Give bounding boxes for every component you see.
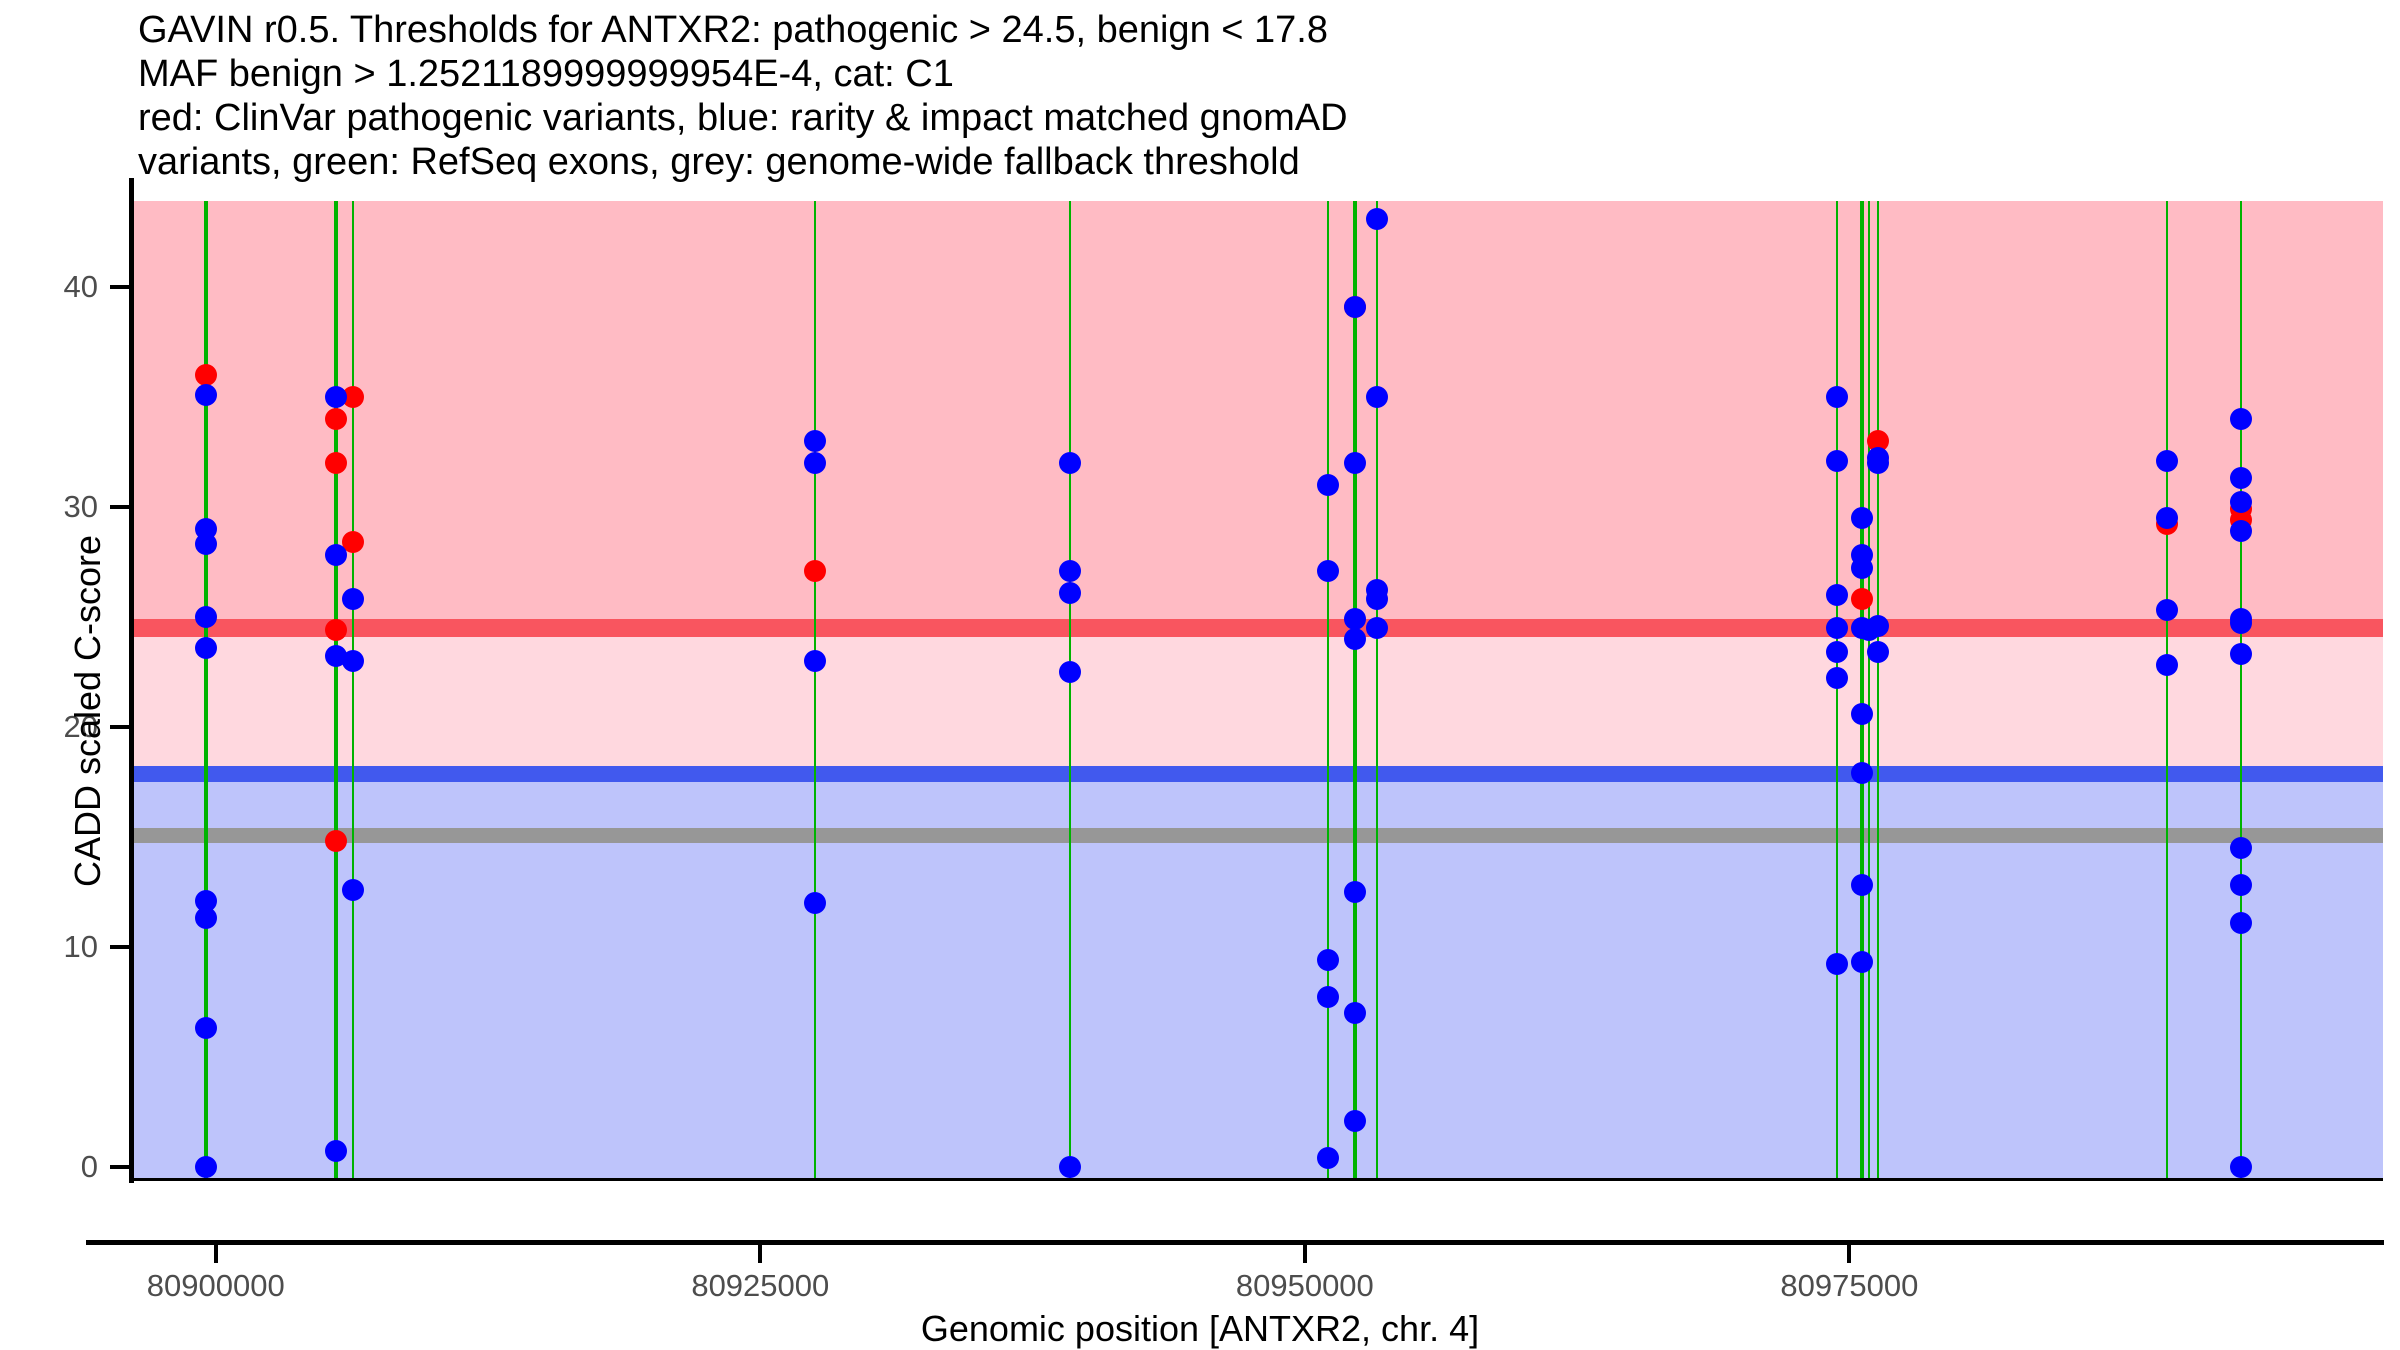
gnomad-variant-point [2230, 520, 2252, 542]
gnomad-variant-point [195, 907, 217, 929]
gnomad-variant-point [1344, 452, 1366, 474]
exon-line [1860, 201, 1864, 1180]
gnomad-variant-point [1826, 584, 1848, 606]
band-benign-threshold [133, 766, 2383, 781]
clinvar-variant-point [195, 364, 217, 386]
gnomad-variant-point [325, 386, 347, 408]
gnomad-variant-point [195, 533, 217, 555]
gnomad-variant-point [1826, 641, 1848, 663]
gnomad-variant-point [195, 1156, 217, 1178]
gnomad-variant-point [1851, 874, 1873, 896]
figure-title: GAVIN r0.5. Thresholds for ANTXR2: patho… [138, 8, 2338, 184]
exon-line [2166, 201, 2168, 1180]
gnomad-variant-point [804, 650, 826, 672]
x-tick-mark [1847, 1245, 1851, 1263]
gnomad-variant-point [2230, 467, 2252, 489]
gnomad-variant-point [1344, 881, 1366, 903]
gnomad-variant-point [1867, 615, 1889, 637]
exon-line [1327, 201, 1329, 1180]
gnomad-variant-point [195, 384, 217, 406]
exon-line [1376, 201, 1378, 1180]
gnomad-variant-point [2156, 599, 2178, 621]
gnomad-variant-point [1851, 507, 1873, 529]
gnomad-variant-point [1344, 1110, 1366, 1132]
gnomad-variant-point [1059, 1156, 1081, 1178]
exon-line [1877, 201, 1879, 1180]
exon-line [1868, 201, 1870, 1180]
gnomad-variant-point [342, 588, 364, 610]
gnomad-variant-point [2156, 654, 2178, 676]
gnomad-variant-point [1826, 450, 1848, 472]
y-tick-mark [110, 945, 130, 949]
gnomad-variant-point [1851, 951, 1873, 973]
gnomad-variant-point [1317, 474, 1339, 496]
gavin-cadd-scatter-figure: GAVIN r0.5. Thresholds for ANTXR2: patho… [0, 0, 2400, 1350]
clinvar-variant-point [325, 830, 347, 852]
clinvar-variant-point [804, 560, 826, 582]
gnomad-variant-point [1366, 617, 1388, 639]
threshold-bands [133, 201, 2383, 1180]
x-tick-label: 80950000 [1236, 1268, 1374, 1304]
gnomad-variant-point [1317, 986, 1339, 1008]
title-line-4: variants, green: RefSeq exons, grey: gen… [138, 140, 2338, 184]
gnomad-variant-point [1059, 582, 1081, 604]
gnomad-variant-point [2230, 912, 2252, 934]
gnomad-variant-point [195, 637, 217, 659]
exon-line [2240, 201, 2242, 1180]
y-axis-line [129, 178, 134, 1183]
x-tick-mark [214, 1245, 218, 1263]
gnomad-variant-point [2156, 507, 2178, 529]
y-tick-mark [110, 505, 130, 509]
plot-panel [133, 201, 2383, 1180]
band-pathogenic-threshold [133, 619, 2383, 637]
gnomad-variant-point [1826, 617, 1848, 639]
gnomad-variant-point [2230, 408, 2252, 430]
gnomad-variant-point [1851, 762, 1873, 784]
y-tick-mark [110, 1165, 130, 1169]
gnomad-variant-point [1366, 386, 1388, 408]
clinvar-variant-point [325, 619, 347, 641]
gnomad-variant-point [195, 1017, 217, 1039]
x-tick-mark [1303, 1245, 1307, 1263]
gnomad-variant-point [1366, 588, 1388, 610]
gnomad-variant-point [2230, 643, 2252, 665]
plot-baseline [131, 1178, 2383, 1181]
x-tick-label: 80900000 [147, 1268, 285, 1304]
gnomad-variant-point [1851, 557, 1873, 579]
y-tick-mark [110, 285, 130, 289]
band-vous [133, 637, 2383, 776]
y-tick-label: 0 [81, 1149, 98, 1185]
x-axis-title: Genomic position [ANTXR2, chr. 4] [0, 1308, 2400, 1350]
gnomad-variant-point [1851, 703, 1873, 725]
clinvar-variant-point [1851, 588, 1873, 610]
gnomad-variant-point [1344, 296, 1366, 318]
gnomad-variant-point [325, 1140, 347, 1162]
exon-line [814, 201, 816, 1180]
clinvar-variant-point [325, 408, 347, 430]
y-tick-label: 40 [64, 269, 98, 305]
gnomad-variant-point [2230, 837, 2252, 859]
y-axis-title: CADD scaled C-score [67, 311, 109, 1111]
gnomad-variant-point [804, 892, 826, 914]
band-fallback-threshold [133, 828, 2383, 843]
gnomad-variant-point [1366, 208, 1388, 230]
gnomad-variant-point [1317, 949, 1339, 971]
gnomad-variant-point [804, 452, 826, 474]
band-pathogenic [133, 201, 2383, 628]
x-tick-label: 80925000 [691, 1268, 829, 1304]
y-tick-mark [110, 725, 130, 729]
title-line-1: GAVIN r0.5. Thresholds for ANTXR2: patho… [138, 8, 2338, 52]
exon-line [1836, 201, 1838, 1180]
gnomad-variant-point [1826, 953, 1848, 975]
gnomad-variant-point [1344, 628, 1366, 650]
title-line-2: MAF benign > 1.2521189999999954E-4, cat:… [138, 52, 2338, 96]
gnomad-variant-point [325, 544, 347, 566]
gnomad-variant-point [1826, 667, 1848, 689]
gnomad-variant-point [2230, 874, 2252, 896]
x-tick-label: 80975000 [1780, 1268, 1918, 1304]
gnomad-variant-point [1344, 1002, 1366, 1024]
x-axis-line [86, 1240, 2384, 1245]
gnomad-variant-point [1059, 560, 1081, 582]
gnomad-variant-point [342, 650, 364, 672]
gnomad-variant-point [1867, 641, 1889, 663]
title-line-3: red: ClinVar pathogenic variants, blue: … [138, 96, 2338, 140]
gnomad-variant-point [1317, 560, 1339, 582]
gnomad-variant-point [804, 430, 826, 452]
gnomad-variant-point [1867, 452, 1889, 474]
exon-line [1069, 201, 1071, 1180]
gnomad-variant-point [2230, 612, 2252, 634]
gnomad-variant-point [342, 879, 364, 901]
gnomad-variant-point [1344, 608, 1366, 630]
gnomad-variant-point [2230, 491, 2252, 513]
gnomad-variant-point [1059, 452, 1081, 474]
gnomad-variant-point [2230, 1156, 2252, 1178]
x-tick-mark [758, 1245, 762, 1263]
exon-line [352, 201, 354, 1180]
gnomad-variant-point [195, 606, 217, 628]
exon-line [334, 201, 338, 1180]
clinvar-variant-point [325, 452, 347, 474]
exon-line [1353, 201, 1357, 1180]
gnomad-variant-point [2156, 450, 2178, 472]
gnomad-variant-point [1826, 386, 1848, 408]
gnomad-variant-point [1059, 661, 1081, 683]
gnomad-variant-point [1317, 1147, 1339, 1169]
